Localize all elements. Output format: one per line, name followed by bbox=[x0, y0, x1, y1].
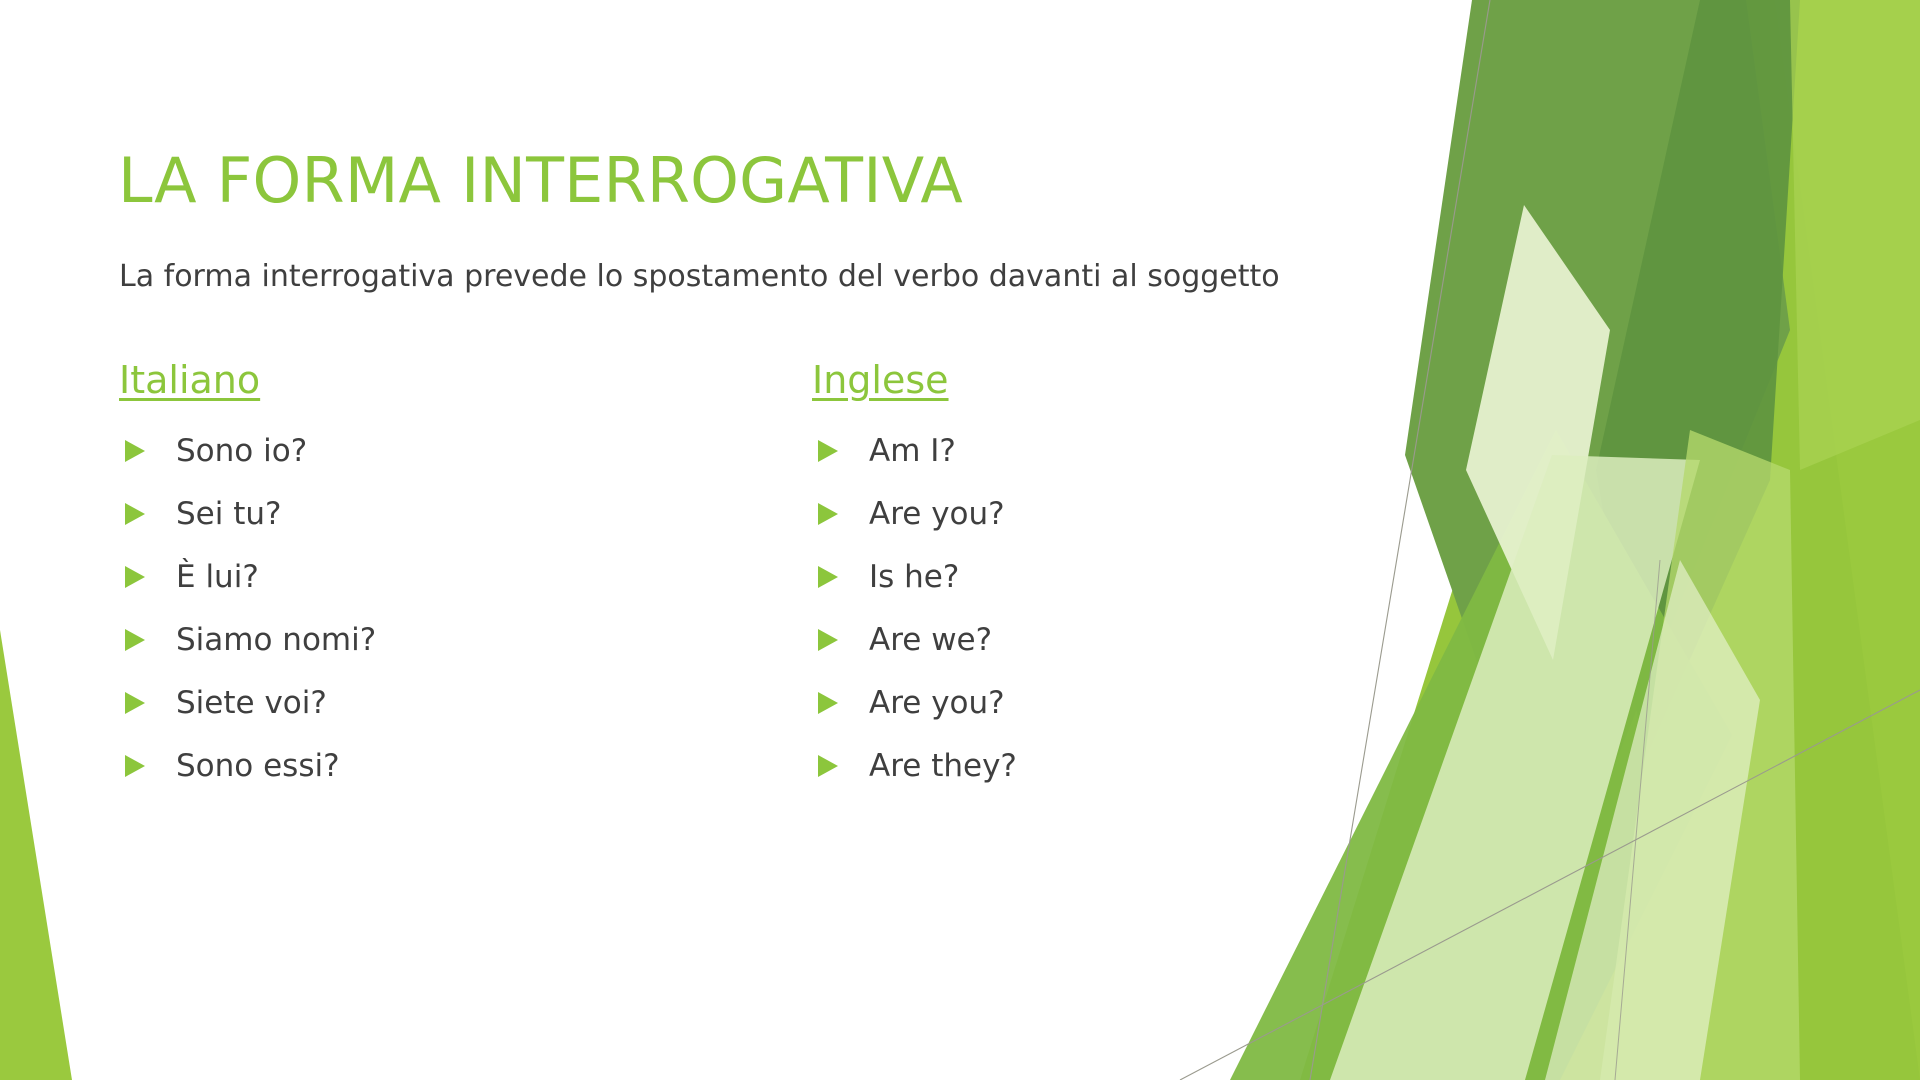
triangle-right-icon bbox=[818, 692, 838, 714]
bullet-list-inglese: Am I? Are you? Is he? bbox=[812, 420, 1372, 798]
page-title: LA FORMA INTERROGATIVA bbox=[118, 148, 963, 213]
list-item-label: Are they? bbox=[869, 751, 1017, 782]
slide-subtitle: La forma interrogativa prevede lo sposta… bbox=[119, 258, 1280, 296]
list-item-label: Are you? bbox=[869, 688, 1005, 719]
list-item: Sono essi? bbox=[119, 735, 739, 798]
triangle-right-icon bbox=[818, 503, 838, 525]
column-inglese: Inglese Am I? Are you? bbox=[812, 360, 1372, 798]
list-item: Are you? bbox=[812, 672, 1372, 735]
facet-right-base bbox=[1420, 0, 1920, 1080]
triangle-right-icon bbox=[125, 692, 145, 714]
list-item-label: Is he? bbox=[869, 562, 959, 593]
hairline-vertical bbox=[1615, 560, 1660, 1080]
facet-dark-triangle bbox=[1405, 0, 1790, 900]
list-item-label: Sei tu? bbox=[176, 499, 281, 530]
column-heading-inglese: Inglese bbox=[812, 360, 949, 402]
presentation-slide: LA FORMA INTERROGATIVA La forma interrog… bbox=[0, 0, 1920, 1080]
column-heading-italiano: Italiano bbox=[119, 360, 260, 402]
list-item: Sei tu? bbox=[119, 483, 739, 546]
triangle-right-icon bbox=[818, 755, 838, 777]
list-item: Am I? bbox=[812, 420, 1372, 483]
triangle-right-icon bbox=[125, 629, 145, 651]
facet-pale-triangle-bottom bbox=[1545, 560, 1760, 1080]
list-item: Siamo nomi? bbox=[119, 609, 739, 672]
list-item: Are they? bbox=[812, 735, 1372, 798]
triangle-right-icon bbox=[125, 503, 145, 525]
triangle-right-icon bbox=[125, 440, 145, 462]
list-item: Siete voi? bbox=[119, 672, 739, 735]
facet-pale-sliver-upper bbox=[1466, 205, 1610, 660]
list-item-label: Are you? bbox=[869, 499, 1005, 530]
triangle-right-icon bbox=[125, 566, 145, 588]
triangle-right-icon bbox=[818, 629, 838, 651]
triangle-right-icon bbox=[818, 566, 838, 588]
facet-light-column bbox=[1600, 430, 1800, 1080]
list-item: Are we? bbox=[812, 609, 1372, 672]
triangle-right-icon bbox=[125, 755, 145, 777]
list-item: Sono io? bbox=[119, 420, 739, 483]
list-item: È lui? bbox=[119, 546, 739, 609]
list-item-label: Siete voi? bbox=[176, 688, 327, 719]
facet-dark-shadow bbox=[1596, 0, 1800, 760]
list-item-label: Are we? bbox=[869, 625, 992, 656]
list-item-label: Sono essi? bbox=[176, 751, 340, 782]
list-item-label: Am I? bbox=[869, 436, 956, 467]
list-item-label: È lui? bbox=[176, 562, 259, 593]
list-item-label: Sono io? bbox=[176, 436, 307, 467]
triangle-right-icon bbox=[818, 440, 838, 462]
bullet-list-italiano: Sono io? Sei tu? È lui? bbox=[119, 420, 739, 798]
list-item: Is he? bbox=[812, 546, 1372, 609]
column-italiano: Italiano Sono io? Sei tu? bbox=[119, 360, 739, 798]
facet-light-upper-right bbox=[1790, 0, 1920, 470]
list-item-label: Siamo nomi? bbox=[176, 625, 376, 656]
list-item: Are you? bbox=[812, 483, 1372, 546]
slide-content: LA FORMA INTERROGATIVA La forma interrog… bbox=[0, 0, 1450, 1080]
